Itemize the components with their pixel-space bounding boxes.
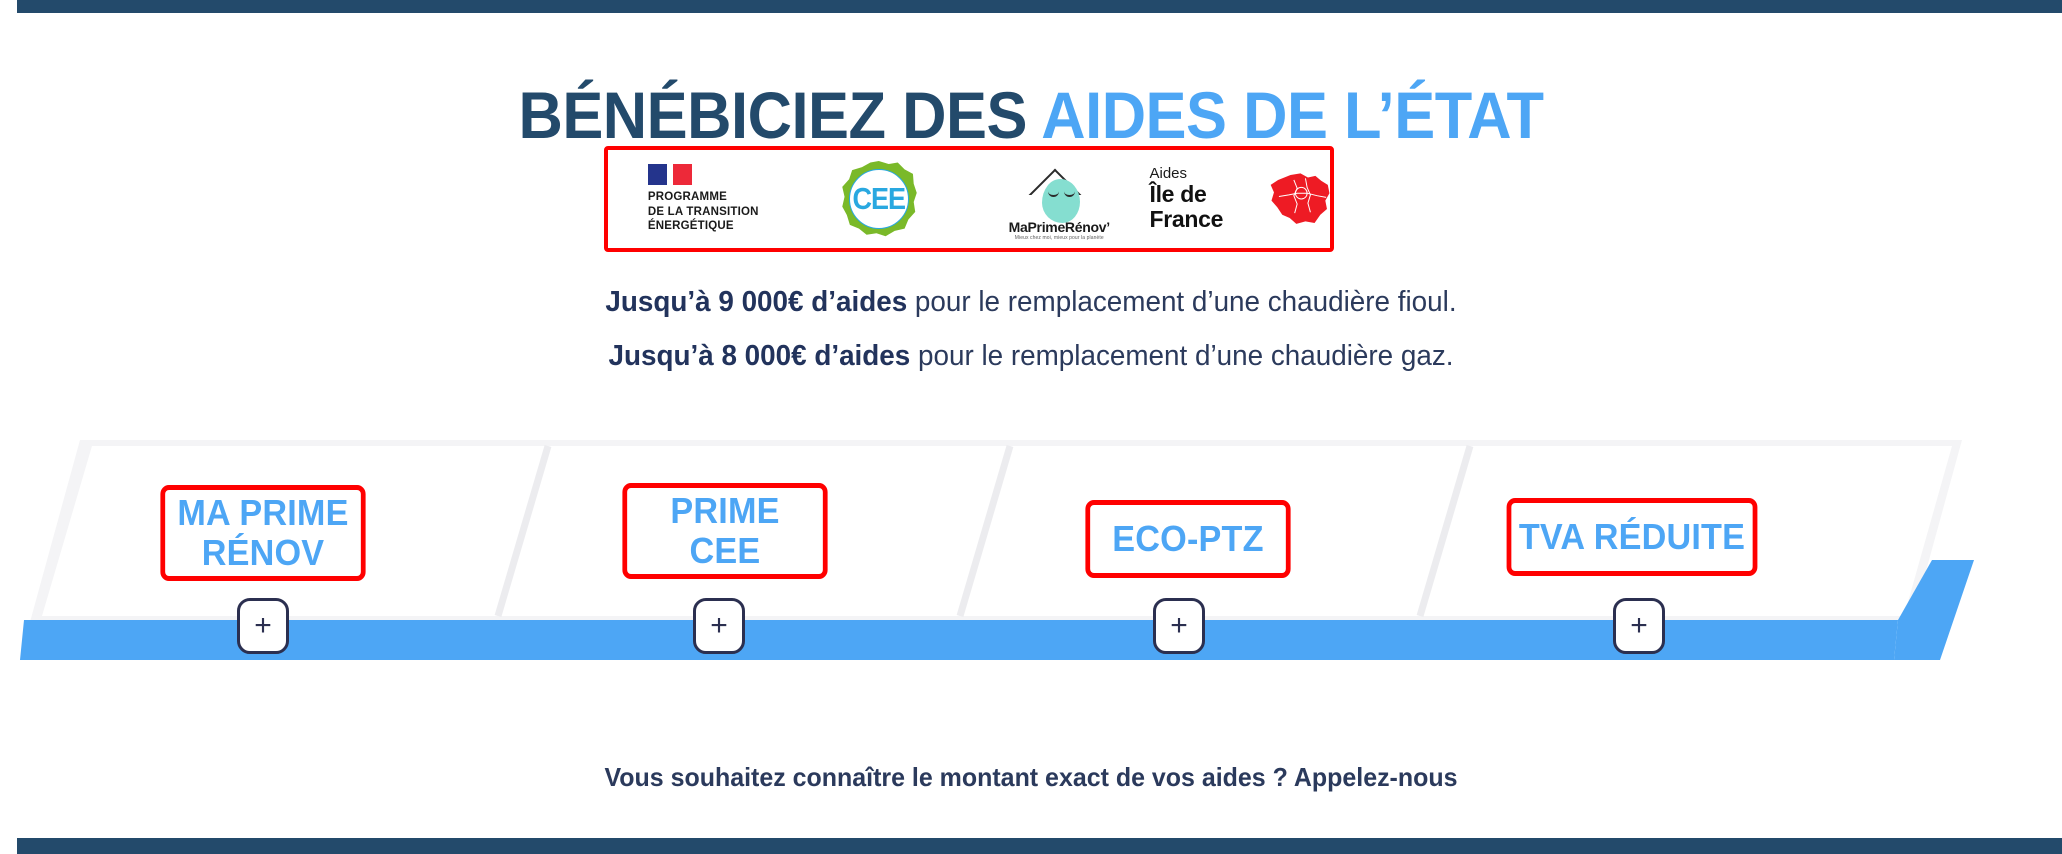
badge-ma-prime-renov[interactable]: MA PRIME RÉNOV [160,485,365,581]
cee-label: CEE [852,182,905,217]
plus-icon: + [1630,611,1648,641]
aid-line-gaz: Jusqu’à 8 000€ d’aides pour le remplacem… [41,340,2021,373]
logo-programme-transition-energetique: PROGRAMME DE LA TRANSITION ÉNERGÉTIQUE [608,150,789,248]
aid-line-fioul-rest: pour le remplacement d’une chaudière fio… [907,286,1456,318]
badge-tva-reduite-label: TVA RÉDUITE [1519,517,1745,557]
expand-button-eco-ptz[interactable]: + [1153,598,1205,654]
plus-icon: + [710,611,728,641]
pte-line-3: ÉNERGÉTIQUE [648,219,759,234]
call-us-text: Vous souhaitez connaître le montant exac… [41,762,2021,793]
aid-line-fioul: Jusqu’à 9 000€ d’aides pour le remplacem… [41,286,2021,319]
french-flag-icon [648,164,692,185]
plus-icon: + [254,611,272,641]
logo-aides-ile-de-france: Aides Île de France [1150,150,1331,248]
partner-logos-strip: PROGRAMME DE LA TRANSITION ÉNERGÉTIQUE C… [604,146,1334,252]
pte-line-2: DE LA TRANSITION [648,205,759,220]
logo-maprimerenov: MaPrimeRénov’ Mieux chez moi, mieux pour… [969,150,1150,248]
logo-cee: CEE [789,150,970,248]
cee-badge-icon: CEE [841,161,917,237]
page-title-dark-part: BÉNÉBICIEZ DES [518,78,1041,152]
badge-prime-cee-label: PRIME CEE [670,491,779,572]
badge-eco-ptz[interactable]: ECO-PTZ [1085,500,1290,578]
bottom-divider-bar [17,838,2062,854]
badge-tva-reduite[interactable]: TVA RÉDUITE [1507,498,1758,576]
idf-line-1: Aides [1150,166,1263,182]
idf-line-2: Île de France [1150,182,1263,233]
page-title: BÉNÉBICIEZ DES AIDES DE L’ÉTAT [72,82,1990,148]
expand-button-ma-prime-renov[interactable]: + [237,598,289,654]
expand-button-prime-cee[interactable]: + [693,598,745,654]
top-divider-bar [17,0,2062,13]
maprimerenov-tagline: Mieux chez moi, mieux pour la planète [984,235,1134,241]
maprimerenov-label: MaPrimeRénov’ [984,219,1134,235]
aid-line-gaz-rest: pour le remplacement d’une chaudière gaz… [910,340,1453,372]
pte-line-1: PROGRAMME [648,190,759,205]
badge-eco-ptz-label: ECO-PTZ [1112,519,1263,559]
aid-line-gaz-amount: Jusqu’à 8 000€ d’aides [609,340,911,372]
renov-face-icon [1042,179,1080,223]
plus-icon: + [1170,611,1188,641]
page-title-blue-part: AIDES DE L’ÉTAT [1041,78,1543,152]
ile-de-france-map-icon [1269,168,1330,230]
expand-button-tva-reduite[interactable]: + [1613,598,1665,654]
aid-line-fioul-amount: Jusqu’à 9 000€ d’aides [605,286,907,318]
badge-prime-cee[interactable]: PRIME CEE [622,483,827,579]
badge-ma-prime-renov-label: MA PRIME RÉNOV [177,493,348,574]
